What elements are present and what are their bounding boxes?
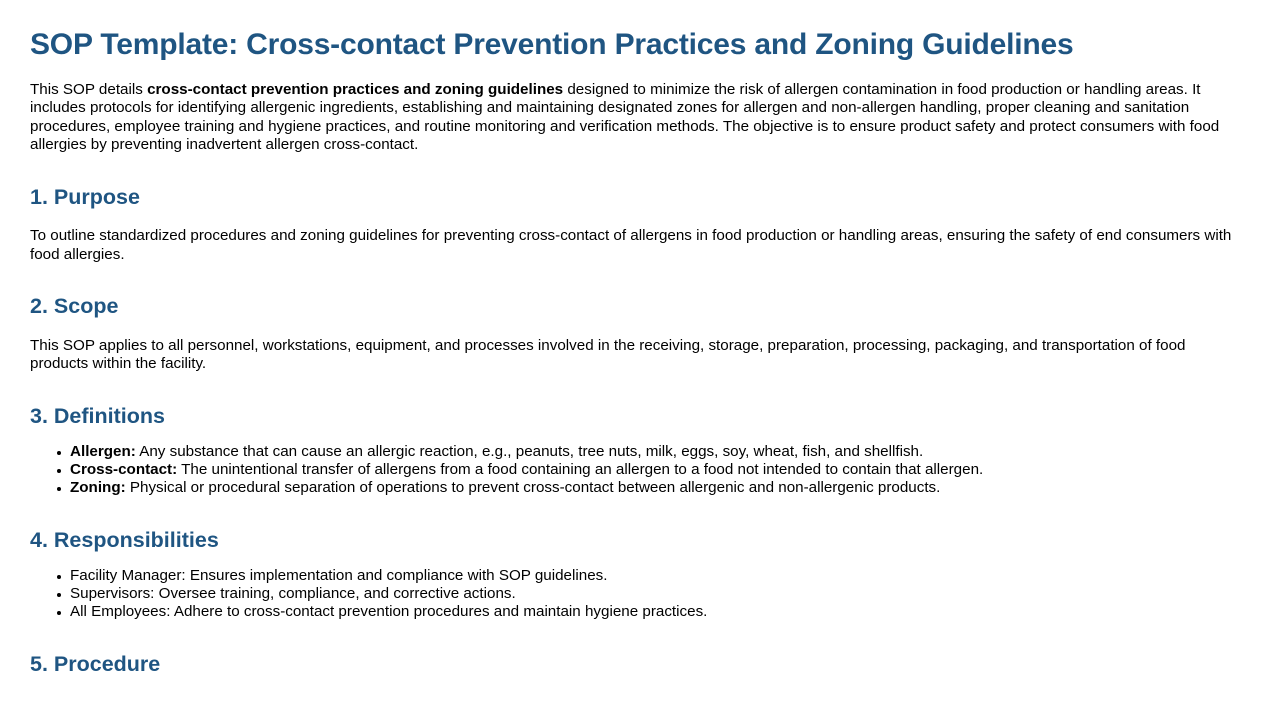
section-body-scope: This SOP applies to all personnel, works…	[30, 337, 1233, 374]
section-heading-definitions: 3. Definitions	[30, 404, 1233, 429]
list-item: All Employees: Adhere to cross-contact p…	[70, 603, 1233, 621]
definition-text: Any substance that can cause an allergic…	[136, 443, 923, 460]
responsibilities-list: Facility Manager: Ensures implementation…	[30, 567, 1233, 622]
intro-bold-phrase: cross-contact prevention practices and z…	[147, 81, 563, 98]
list-item: Allergen: Any substance that can cause a…	[70, 443, 1233, 461]
section-heading-scope: 2. Scope	[30, 294, 1233, 319]
intro-paragraph: This SOP details cross-contact preventio…	[30, 81, 1233, 155]
definition-text: Physical or procedural separation of ope…	[126, 479, 941, 496]
intro-prefix: This SOP details	[30, 81, 147, 98]
document-page: SOP Template: Cross-contact Prevention P…	[0, 28, 1263, 677]
list-item: Zoning: Physical or procedural separatio…	[70, 479, 1233, 497]
section-heading-procedure: 5. Procedure	[30, 652, 1233, 677]
definition-term: Allergen:	[70, 443, 136, 460]
section-body-purpose: To outline standardized procedures and z…	[30, 227, 1233, 264]
definitions-list: Allergen: Any substance that can cause a…	[30, 443, 1233, 498]
definition-term: Zoning:	[70, 479, 126, 496]
list-item: Cross-contact: The unintentional transfe…	[70, 461, 1233, 479]
list-item: Facility Manager: Ensures implementation…	[70, 567, 1233, 585]
section-heading-purpose: 1. Purpose	[30, 185, 1233, 210]
page-title: SOP Template: Cross-contact Prevention P…	[30, 28, 1233, 63]
section-heading-responsibilities: 4. Responsibilities	[30, 528, 1233, 553]
list-item: Supervisors: Oversee training, complianc…	[70, 585, 1233, 603]
definition-text: The unintentional transfer of allergens …	[177, 461, 983, 478]
definition-term: Cross-contact:	[70, 461, 177, 478]
